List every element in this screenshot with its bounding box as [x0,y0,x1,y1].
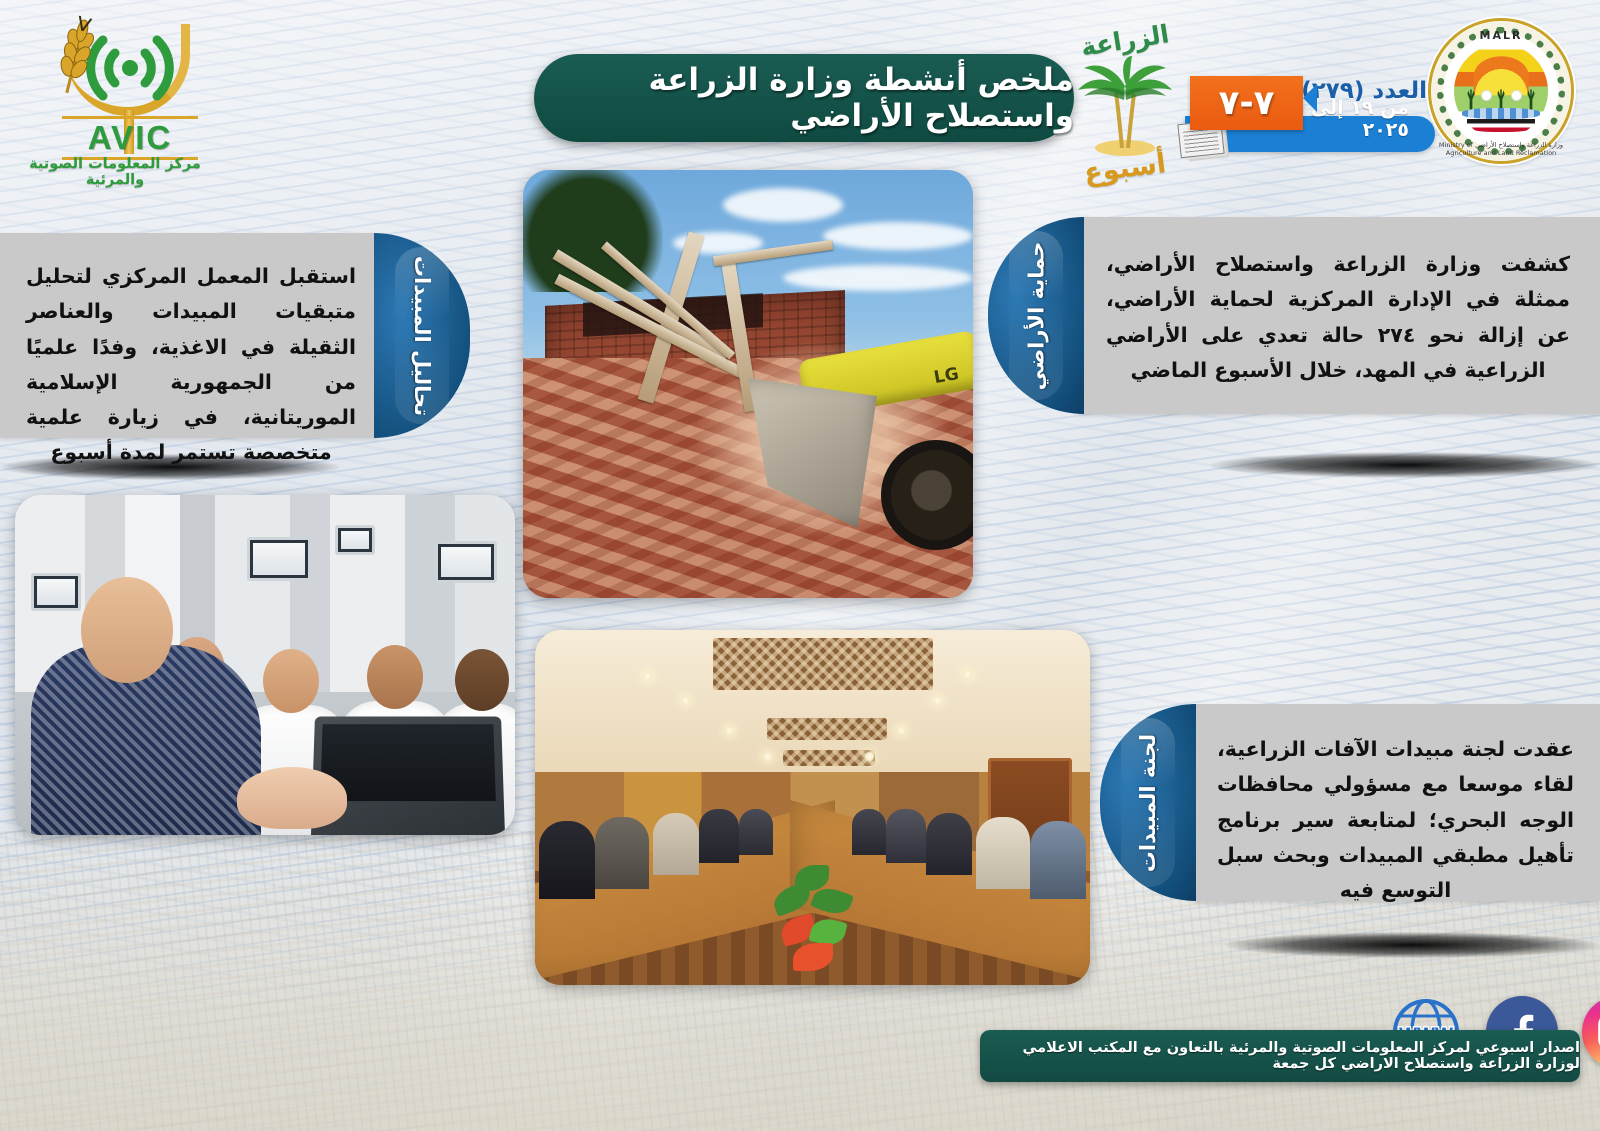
content-card-land-protection: كشفت وزارة الزراعة واستصلاح الأراضي، ممث… [988,217,1600,414]
card-tab-label: لجنة المبيدات [1136,733,1160,871]
malr-bottom-text: وزارة الزراعة واستصلاح الأراضي Ministry … [1428,141,1574,157]
malr-flag-icon [1467,119,1535,132]
lab-photo [15,495,515,835]
avic-acronym-box: AVIC [62,116,198,160]
malr-plants-icon [1454,80,1548,112]
demolition-photo-content: LG [523,170,973,598]
content-card-pesticides-committee: عقدت لجنة مبيدات الآفات الزراعية، لقاء م… [1100,704,1600,901]
agriculture-week-logo: الزراعة أسبوع [1060,22,1190,180]
issue-badge: العدد (٢٧٩) من ١٩ إلى ٢٥ ديسمبر ٢٠٢٥ ٧-٧ [1185,76,1435,162]
card-text: استقبل المعمل المركزي لتحليل متبقيات الم… [0,233,378,471]
page-title-text: ملخص أنشطة وزارة الزراعة واستصلاح الأراض… [534,62,1074,134]
card-body: كشفت وزارة الزراعة واستصلاح الأراضي، ممث… [1080,217,1600,414]
malr-water-icon [1462,108,1541,119]
demolition-photo: LG [523,170,973,598]
card-text: كشفت وزارة الزراعة واستصلاح الأراضي، ممث… [1080,217,1600,388]
card-shadow [1225,932,1600,958]
card-tab-inner: تحاليل المبيدات [395,247,449,424]
meeting-photo-content [535,630,1090,985]
malr-acronym-text: MALR [1428,29,1574,42]
palm-tree-icon [1070,56,1180,156]
card-tab-inner: حماية الأراضي [1009,231,1063,400]
infographic-poster: AVIC مركز المعلومات الصوتية والمرئية ملخ… [0,0,1600,1131]
issue-range-badge: ٧-٧ [1190,76,1303,130]
avic-acronym-text: AVIC [88,119,172,157]
meeting-photo [535,630,1090,985]
malr-logo: MALR وزارة الزراعة واستصلاح الأراضي Mini… [1428,18,1574,164]
card-text: عقدت لجنة مبيدات الآفات الزراعية، لقاء م… [1193,704,1600,908]
lab-photo-content [15,495,515,835]
card-body: عقدت لجنة مبيدات الآفات الزراعية، لقاء م… [1193,704,1600,901]
page-title: ملخص أنشطة وزارة الزراعة واستصلاح الأراض… [534,54,1074,142]
content-card-pesticide-analysis: استقبل المعمل المركزي لتحليل متبقيات الم… [0,233,470,438]
avic-logo: AVIC مركز المعلومات الصوتية والمرئية [20,6,210,176]
instagram-icon[interactable] [1582,996,1600,1068]
card-tab-inner: لجنة المبيدات [1121,718,1175,887]
footer-banner-text: اصدار اسبوعي لمركز المعلومات الصوتية وال… [980,1040,1580,1072]
card-body: استقبل المعمل المركزي لتحليل متبقيات الم… [0,233,378,438]
card-tab-label: حماية الأراضي [1024,241,1048,390]
card-tab-label: تحاليل المبيدات [410,255,434,415]
footer-banner: اصدار اسبوعي لمركز المعلومات الصوتية وال… [980,1030,1580,1082]
card-tab[interactable]: لجنة المبيدات [1100,704,1196,901]
avic-subtitle: مركز المعلومات الصوتية والمرئية [20,156,210,188]
card-tab[interactable]: حماية الأراضي [988,217,1084,414]
malr-emblem-disc [1454,44,1548,138]
card-tab[interactable]: تحاليل المبيدات [374,233,470,438]
card-shadow [1210,452,1600,478]
